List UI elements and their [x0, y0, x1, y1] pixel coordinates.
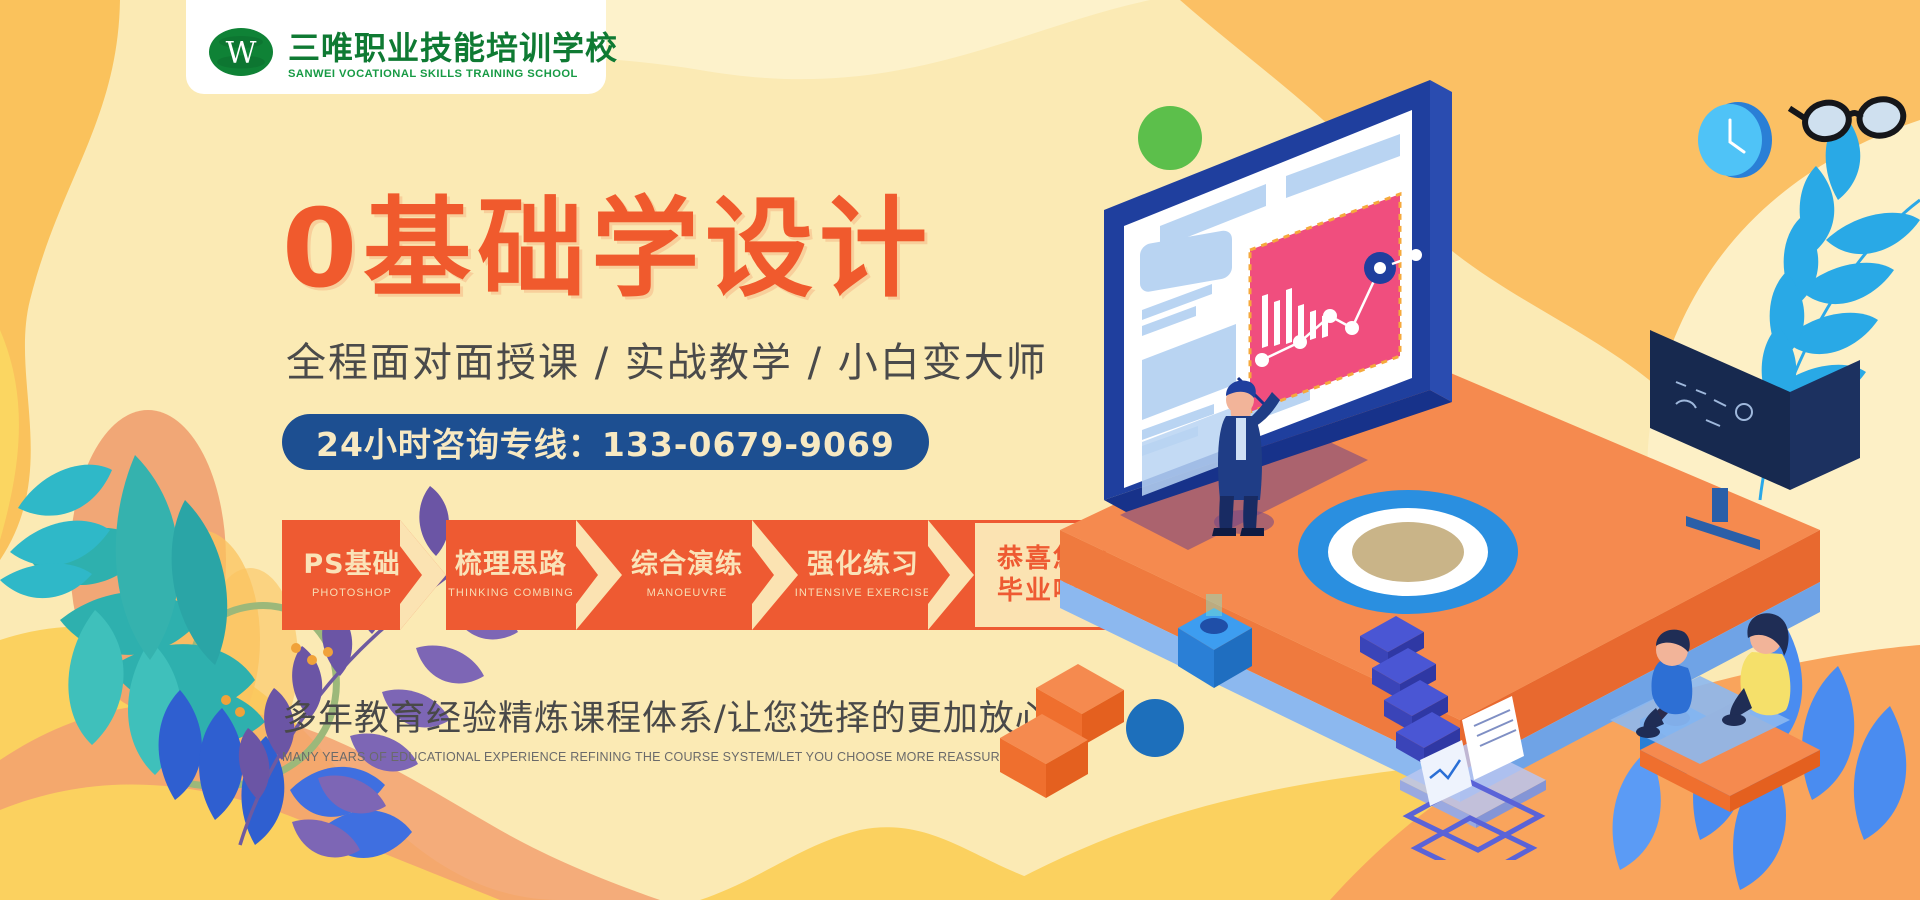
decorative-dots	[0, 0, 1920, 900]
promo-banner: W 三唯职业技能培训学校 SANWEI VOCATIONAL SKILLS TR…	[0, 0, 1920, 900]
blue-circle-icon	[1126, 699, 1184, 757]
